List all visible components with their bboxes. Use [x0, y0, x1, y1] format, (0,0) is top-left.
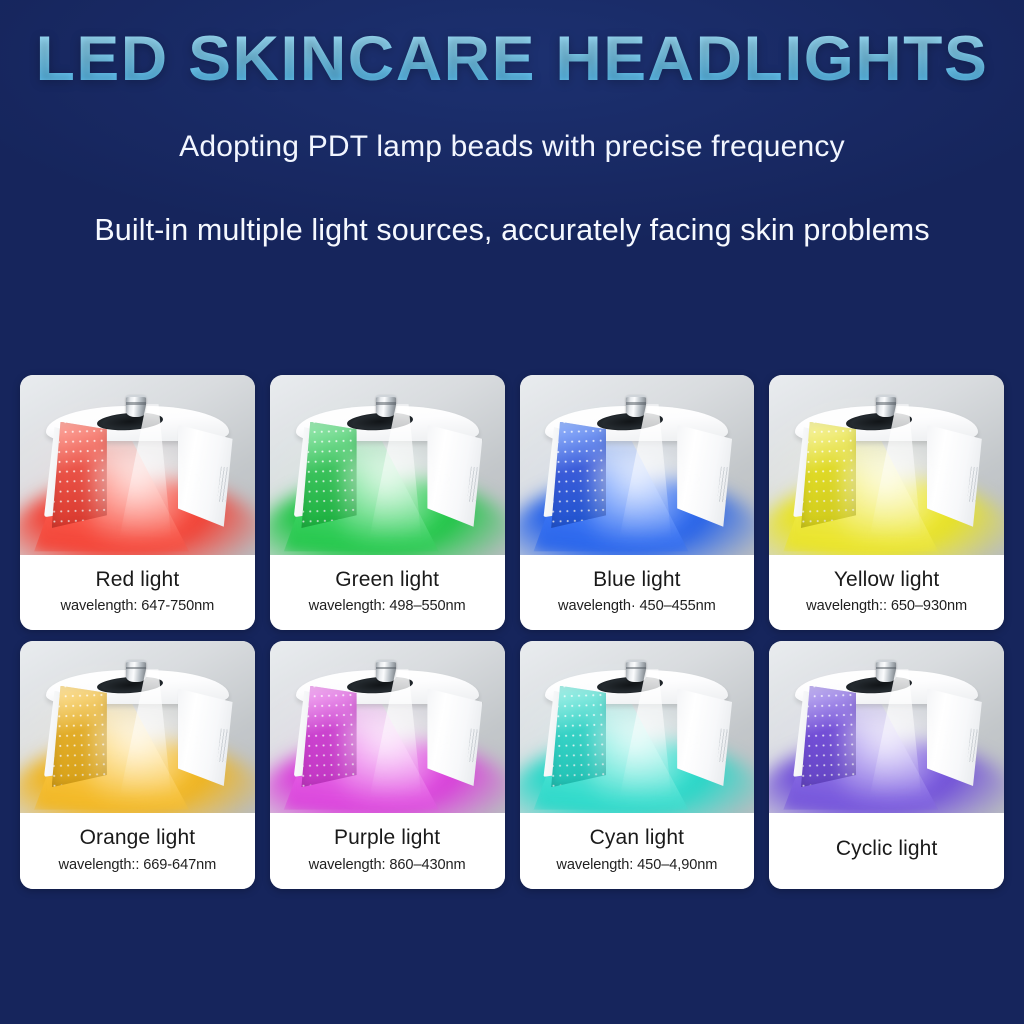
hood-vent-grille: [967, 467, 979, 502]
card-title: Blue light: [593, 567, 680, 593]
card-wavelength: wavelength: 647-750nm: [61, 598, 215, 614]
light-mode-grid: Red light wavelength: 647-750nm: [20, 375, 1004, 889]
light-mode-card[interactable]: Purple light wavelength: 860–430nm: [270, 641, 505, 889]
card-title: Green light: [335, 567, 439, 593]
led-hood-device-icon: [769, 375, 1004, 555]
card-title: Purple light: [334, 825, 440, 851]
subtitle-primary: Adopting PDT lamp beads with precise fre…: [0, 130, 1024, 164]
hood-vent-grille: [218, 729, 230, 763]
card-caption: Cyclic light: [769, 813, 1004, 889]
card-wavelength: wavelength:: 669-647nm: [59, 857, 217, 873]
vapor-haze: [340, 713, 453, 802]
hood-vent-grille: [717, 729, 729, 763]
vapor-haze: [840, 713, 953, 802]
vapor-haze: [590, 713, 703, 802]
card-wavelength: wavelength:: 650–930nm: [806, 598, 967, 614]
metal-knob-icon: [876, 395, 896, 418]
light-mode-card[interactable]: Cyclic light: [769, 641, 1004, 889]
led-hood-device-icon: [270, 641, 505, 813]
metal-knob-icon: [126, 395, 146, 418]
hood-vent-grille: [717, 467, 729, 502]
card-wavelength: wavelength: 860–430nm: [309, 857, 466, 873]
page-title: LED SKINCARE HEADLIGHTS: [0, 26, 1024, 92]
card-wavelength: wavelength: 450–4,90nm: [556, 857, 717, 873]
light-mode-card[interactable]: Green light wavelength: 498–550nm: [270, 375, 505, 630]
vapor-haze: [840, 451, 953, 545]
card-caption: Blue light wavelength· 450–455nm: [520, 555, 755, 630]
card-caption: Orange light wavelength:: 669-647nm: [20, 813, 255, 889]
light-mode-card[interactable]: Red light wavelength: 647-750nm: [20, 375, 255, 630]
card-title: Cyclic light: [836, 836, 938, 862]
subtitle-secondary: Built-in multiple light sources, accurat…: [0, 213, 1024, 248]
light-mode-card[interactable]: Cyan light wavelength: 450–4,90nm: [520, 641, 755, 889]
card-title: Red light: [95, 567, 179, 593]
hood-vent-grille: [467, 467, 479, 502]
card-title: Orange light: [80, 825, 196, 851]
vapor-haze: [340, 451, 453, 545]
led-hood-device-icon: [20, 375, 255, 555]
card-title: Yellow light: [834, 567, 940, 593]
card-caption: Green light wavelength: 498–550nm: [270, 555, 505, 630]
light-mode-card[interactable]: Orange light wavelength:: 669-647nm: [20, 641, 255, 889]
led-hood-device-icon: [769, 641, 1004, 813]
hood-vent-grille: [218, 467, 230, 502]
light-mode-card[interactable]: Yellow light wavelength:: 650–930nm: [769, 375, 1004, 630]
metal-knob-icon: [126, 660, 146, 682]
vapor-haze: [590, 451, 703, 545]
card-caption: Red light wavelength: 647-750nm: [20, 555, 255, 630]
led-hood-device-icon: [20, 641, 255, 813]
card-wavelength: wavelength: 498–550nm: [309, 598, 466, 614]
led-hood-device-icon: [520, 641, 755, 813]
led-hood-device-icon: [270, 375, 505, 555]
metal-knob-icon: [376, 660, 396, 682]
card-wavelength: wavelength· 450–455nm: [558, 598, 716, 614]
hood-vent-grille: [967, 729, 979, 763]
led-hood-device-icon: [520, 375, 755, 555]
metal-knob-icon: [876, 660, 896, 682]
card-title: Cyan light: [590, 825, 684, 851]
metal-knob-icon: [376, 395, 396, 418]
card-caption: Purple light wavelength: 860–430nm: [270, 813, 505, 889]
metal-knob-icon: [626, 660, 646, 682]
card-caption: Cyan light wavelength: 450–4,90nm: [520, 813, 755, 889]
hood-vent-grille: [467, 729, 479, 763]
card-caption: Yellow light wavelength:: 650–930nm: [769, 555, 1004, 630]
page-header: LED SKINCARE HEADLIGHTS Adopting PDT lam…: [0, 0, 1024, 248]
vapor-haze: [90, 713, 203, 802]
light-mode-card[interactable]: Blue light wavelength· 450–455nm: [520, 375, 755, 630]
metal-knob-icon: [626, 395, 646, 418]
vapor-haze: [90, 451, 203, 545]
